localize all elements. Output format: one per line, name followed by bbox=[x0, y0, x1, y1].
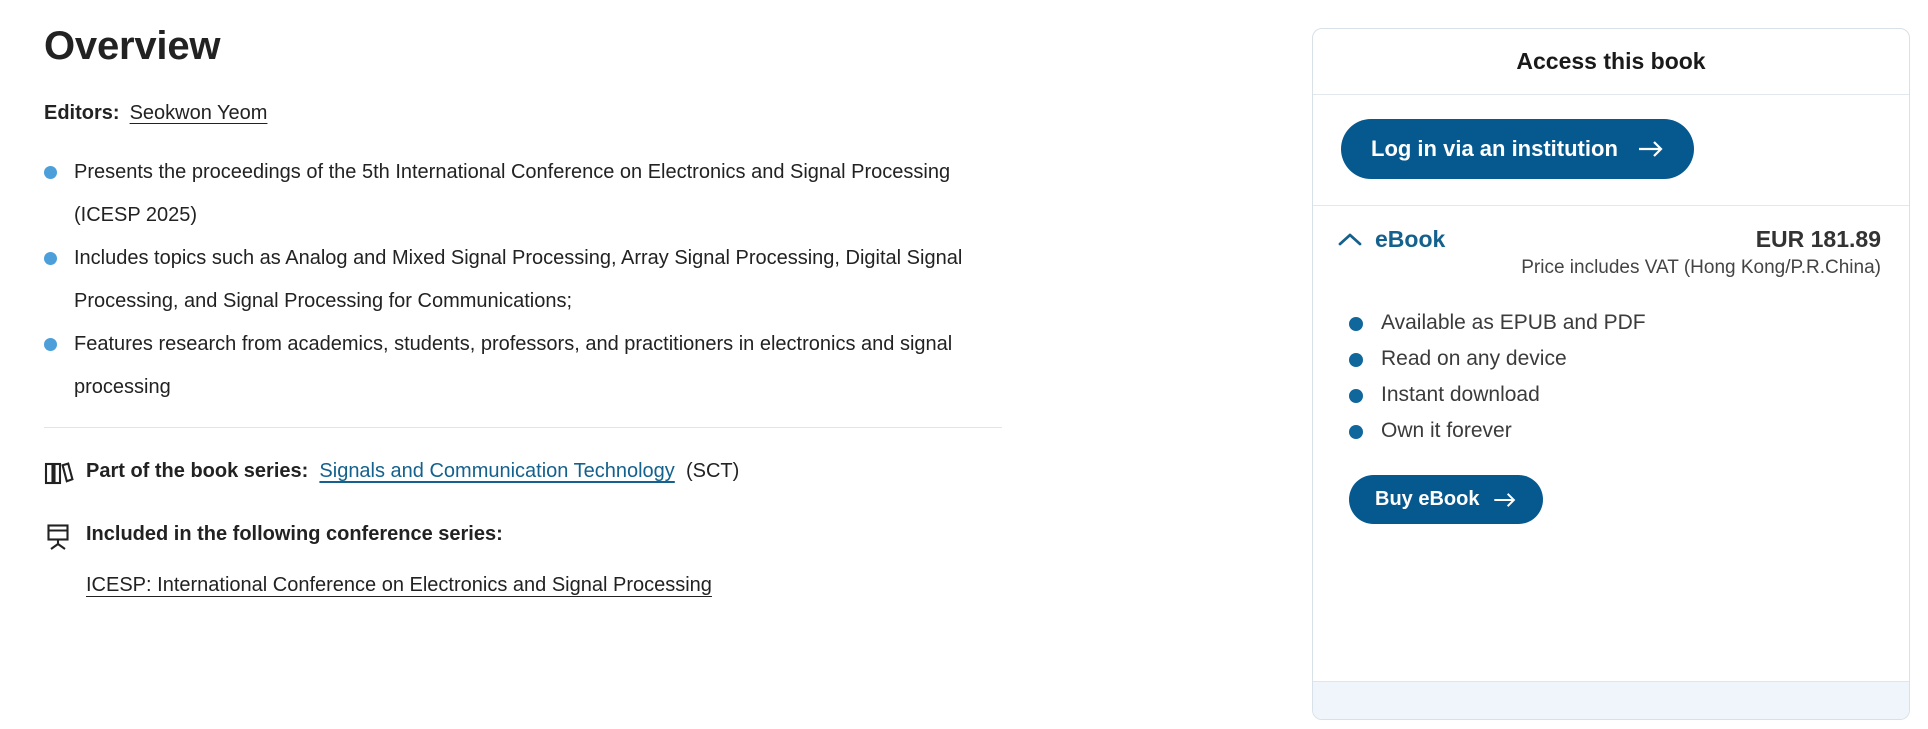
book-series-link[interactable]: Signals and Communication Technology bbox=[319, 460, 674, 482]
ebook-price: EUR 181.89 bbox=[1756, 226, 1881, 253]
bullet-icon bbox=[44, 166, 57, 179]
book-series-text: Part of the book series: Signals and Com… bbox=[86, 458, 739, 485]
conference-series-row: Included in the following conference ser… bbox=[44, 521, 1224, 599]
editors-row: Editors: Seokwon Yeom bbox=[44, 102, 1224, 125]
section-divider bbox=[44, 427, 1002, 428]
bullet-icon bbox=[1349, 317, 1363, 331]
conference-series-link[interactable]: ICESP: International Conference on Elect… bbox=[86, 572, 712, 599]
list-item: Own it forever bbox=[1349, 413, 1909, 449]
overview-highlights-list: Presents the proceedings of the 5th Inte… bbox=[44, 151, 1224, 409]
card-title: Access this book bbox=[1516, 48, 1705, 75]
card-footer-strip bbox=[1313, 681, 1909, 719]
buy-ebook-button[interactable]: Buy eBook bbox=[1349, 475, 1543, 524]
highlight-text: Features research from academics, studen… bbox=[74, 333, 952, 398]
bullet-icon bbox=[1349, 389, 1363, 403]
ebook-header-row: eBook EUR 181.89 bbox=[1313, 206, 1909, 253]
bullet-icon bbox=[44, 338, 57, 351]
editor-link-seokwon-yeom[interactable]: Seokwon Yeom bbox=[130, 102, 268, 125]
arrow-right-icon bbox=[1493, 492, 1517, 508]
book-series-abbrev: (SCT) bbox=[686, 460, 739, 482]
bullet-icon bbox=[1349, 353, 1363, 367]
feature-text: Instant download bbox=[1381, 383, 1540, 406]
feature-text: Read on any device bbox=[1381, 347, 1567, 370]
conference-series-label: Included in the following conference ser… bbox=[86, 523, 503, 545]
books-icon bbox=[44, 458, 76, 491]
bullet-icon bbox=[1349, 425, 1363, 439]
buy-ebook-wrapper: Buy eBook bbox=[1313, 449, 1909, 548]
editors-label: Editors: bbox=[44, 102, 120, 125]
access-this-book-card: Access this book Log in via an instituti… bbox=[1312, 28, 1910, 720]
ebook-vat-note: Price includes VAT (Hong Kong/P.R.China) bbox=[1313, 253, 1909, 279]
list-item: Instant download bbox=[1349, 377, 1909, 413]
presentation-board-icon bbox=[44, 521, 76, 556]
list-item: Available as EPUB and PDF bbox=[1349, 305, 1909, 341]
arrow-right-icon bbox=[1638, 140, 1664, 158]
conference-series-text: Included in the following conference ser… bbox=[86, 521, 712, 599]
feature-text: Available as EPUB and PDF bbox=[1381, 311, 1646, 334]
log-in-button-label: Log in via an institution bbox=[1371, 136, 1618, 162]
ebook-features-list: Available as EPUB and PDF Read on any de… bbox=[1313, 305, 1909, 449]
list-item: Read on any device bbox=[1349, 341, 1909, 377]
log-in-via-institution-button[interactable]: Log in via an institution bbox=[1341, 119, 1694, 179]
list-item: Includes topics such as Analog and Mixed… bbox=[44, 237, 1004, 323]
card-header: Access this book bbox=[1313, 29, 1909, 95]
ebook-toggle-label[interactable]: eBook bbox=[1375, 226, 1445, 253]
feature-text: Own it forever bbox=[1381, 419, 1512, 442]
list-item: Features research from academics, studen… bbox=[44, 323, 1004, 409]
highlight-text: Presents the proceedings of the 5th Inte… bbox=[74, 161, 950, 226]
login-section: Log in via an institution bbox=[1313, 95, 1909, 206]
list-item: Presents the proceedings of the 5th Inte… bbox=[44, 151, 1004, 237]
book-series-row: Part of the book series: Signals and Com… bbox=[44, 458, 1224, 491]
highlight-text: Includes topics such as Analog and Mixed… bbox=[74, 247, 962, 312]
ebook-section: eBook EUR 181.89 Price includes VAT (Hon… bbox=[1313, 206, 1909, 548]
overview-section: Overview Editors: Seokwon Yeom Presents … bbox=[44, 0, 1224, 729]
chevron-up-icon[interactable] bbox=[1331, 232, 1375, 248]
bullet-icon bbox=[44, 252, 57, 265]
book-series-label: Part of the book series: bbox=[86, 460, 308, 482]
page-root: Overview Editors: Seokwon Yeom Presents … bbox=[0, 0, 1928, 729]
page-title: Overview bbox=[44, 0, 1224, 70]
buy-ebook-label: Buy eBook bbox=[1375, 488, 1479, 511]
